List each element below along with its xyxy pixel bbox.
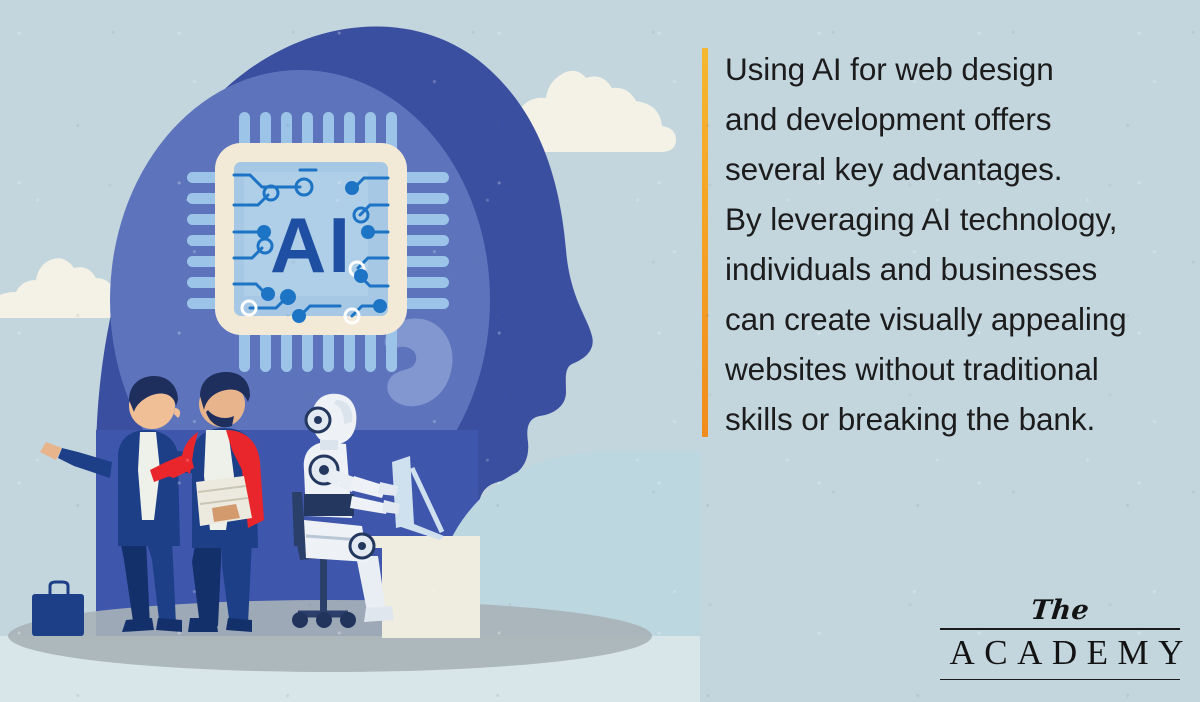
ai-brain-head-illustration: AI bbox=[0, 0, 700, 702]
slide-canvas: AI bbox=[0, 0, 1200, 702]
accent-bar bbox=[702, 48, 708, 437]
chip-ai-label: AI bbox=[270, 201, 352, 289]
logo-script-word: The bbox=[938, 596, 1181, 626]
quote-text: Using AI for web design and development … bbox=[725, 44, 1193, 444]
logo-rule-bottom bbox=[940, 679, 1180, 681]
academy-logo: The ACADEMY bbox=[940, 596, 1180, 680]
logo-main-word: ACADEMY bbox=[940, 630, 1180, 676]
